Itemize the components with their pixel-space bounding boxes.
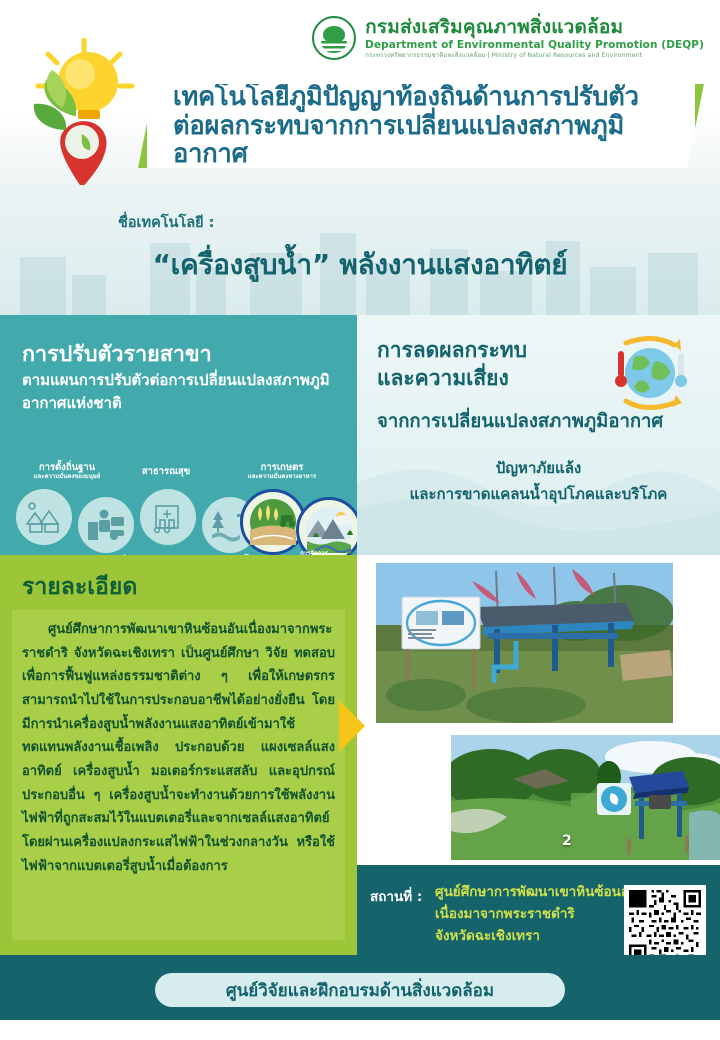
mitigation-heading: การลดผลกระทบ และความเสี่ยง: [377, 337, 527, 392]
illustration-svg: [22, 38, 142, 188]
location-label: สถานที่ :: [370, 885, 422, 907]
title-line-2: ต่อผลกระทบจากการเปลี่ยนแปลงสภาพภูมิอากาศ: [173, 112, 695, 169]
adaptation-panel: การปรับตัวรายสาขา ตามแผนการปรับตัวต่อการ…: [0, 315, 357, 555]
mitigation-sub-line2: และการขาดแคลนน้ำอุปโภคและบริโภค: [357, 481, 720, 507]
sector-label-agriculture: การเกษตร และความมั่นคงทางอาหาร: [230, 463, 334, 481]
org-name-english: Department of Environmental Quality Prom…: [365, 39, 704, 51]
details-panel: รายละเอียด ศูนย์ศึกษาการพัฒนาเขาหินซ้อนอ…: [0, 555, 357, 955]
mitigation-heading-line1: การลดผลกระทบ: [377, 337, 527, 365]
settlement-icon: [16, 489, 72, 545]
adaptation-heading: การปรับตัวรายสาขา: [22, 337, 212, 371]
tourism-icon: [78, 497, 134, 553]
qr-code-image: [629, 890, 701, 962]
photo-solar-panel-array: [376, 563, 673, 723]
hot-thermometer-icon: [615, 351, 627, 387]
location-value: ศูนย์ศึกษาการพัฒนาเขาหินซ้อนอัน เนื่องมา…: [435, 882, 650, 948]
mitigation-panel: การลดผลกระทบ และความเสี่ยง จากการเปลี่ยน…: [357, 315, 720, 555]
photo-gallery: 2: [357, 555, 720, 865]
title-line-1: เทคโนโลยีภูมิปัญญาท้องถิ่นด้านการปรับตัว: [173, 83, 695, 112]
technology-label: ชื่อเทคโนโลยี :: [118, 211, 214, 234]
technology-name: “เครื่องสูบน้ำ” พลังงานแสงอาทิตย์: [0, 243, 720, 287]
sector-icon-public-health[interactable]: [140, 489, 196, 545]
sector-label-settlement: การตั้งถิ่นฐาน และความมั่นคงของมนุษย์: [12, 463, 122, 481]
location-line-2: เนื่องมาจากพระราชดำริ: [435, 904, 650, 926]
poster-title: เทคโนโลยีภูมิปัญญาท้องถิ่นด้านการปรับตัว…: [138, 84, 704, 168]
technology-name-band: ชื่อเทคโนโลยี : “เครื่องสูบน้ำ” พลังงานแ…: [0, 185, 720, 315]
org-ministry-line: กระทรวงทรัพยากรธรรมชาติและสิ่งแวดล้อม | …: [365, 52, 704, 59]
deqp-emblem-icon: [312, 16, 356, 60]
photo-solar-pump-rice-field: [451, 735, 720, 860]
details-body-box: ศูนย์ศึกษาการพัฒนาเขาหินซ้อนอันเนื่องมาจ…: [12, 610, 345, 940]
footer-organization: ศูนย์วิจัยและฝึกอบรมด้านสิ่งแวดล้อม: [155, 973, 565, 1007]
mitigation-heading-line2: และความเสี่ยง: [377, 365, 527, 393]
mitigation-subtext: ปัญหาภัยแล้ง และการขาดแคลนน้ำอุปโภคและบร…: [357, 455, 720, 508]
sector-icon-row: การตั้งถิ่นฐาน และความมั่นคงของมนุษย์ สา…: [8, 467, 353, 547]
mitigation-sub-line1: ปัญหาภัยแล้ง: [357, 455, 720, 481]
cold-thermometer-icon: [675, 353, 687, 387]
location-line-3: จังหวัดฉะเชิงเทรา: [435, 926, 650, 948]
sector-label-public-health: สาธารณสุข: [118, 467, 214, 478]
photo-number-label: 2: [562, 833, 572, 849]
lightbulb-leaf-pin-illustration: [22, 38, 142, 188]
org-name-thai: กรมส่งเสริมคุณภาพสิ่งแวดล้อม: [365, 17, 704, 39]
location-line-1: ศูนย์ศึกษาการพัฒนาเขาหินซ้อนอัน: [435, 882, 650, 904]
details-body-text: ศูนย์ศึกษาการพัฒนาเขาหินซ้อนอันเนื่องมาจ…: [22, 618, 335, 878]
poster-header: กรมส่งเสริมคุณภาพสิ่งแวดล้อม Department …: [0, 0, 720, 185]
sector-icon-settlement[interactable]: [16, 489, 72, 545]
mitigation-heading-line3: จากการเปลี่ยนแปลงสภาพภูมิอากาศ: [377, 407, 663, 436]
sector-icon-tourism[interactable]: [78, 497, 134, 553]
bottom-white-strip: [0, 1020, 720, 1040]
globe-thermometer-icon: [598, 333, 698, 413]
pointer-arrow-icon: [339, 700, 365, 752]
deqp-logo: กรมส่งเสริมคุณภาพสิ่งแวดล้อม Department …: [312, 16, 704, 60]
poster-root: กรมส่งเสริมคุณภาพสิ่งแวดล้อม Department …: [0, 0, 720, 1040]
details-heading: รายละเอียด: [22, 569, 137, 605]
public-health-icon: [140, 489, 196, 545]
adaptation-subheading: ตามแผนการปรับตัวต่อการเปลี่ยนแปลงสภาพภูม…: [22, 369, 342, 414]
